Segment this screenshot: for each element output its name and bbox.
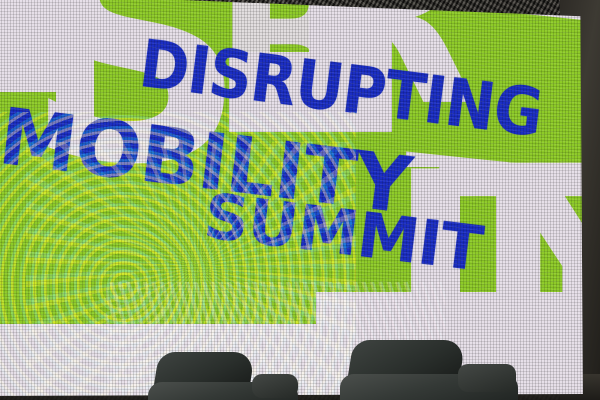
armchair-left [148,352,308,400]
chair-arm [458,364,516,392]
led-wall-canvas: S R B I T Y DISRUPTING MOBILITY SUMMIT [0,0,600,396]
armchair-right [340,340,530,400]
screenshot-root: S R B I T Y DISRUPTING MOBILITY SUMMIT [0,0,600,400]
bg-letter-b: B [214,0,358,118]
bg-letter-s: S [24,0,235,174]
chair-arm [252,374,298,398]
led-video-wall: S R B I T Y DISRUPTING MOBILITY SUMMIT [0,0,600,396]
